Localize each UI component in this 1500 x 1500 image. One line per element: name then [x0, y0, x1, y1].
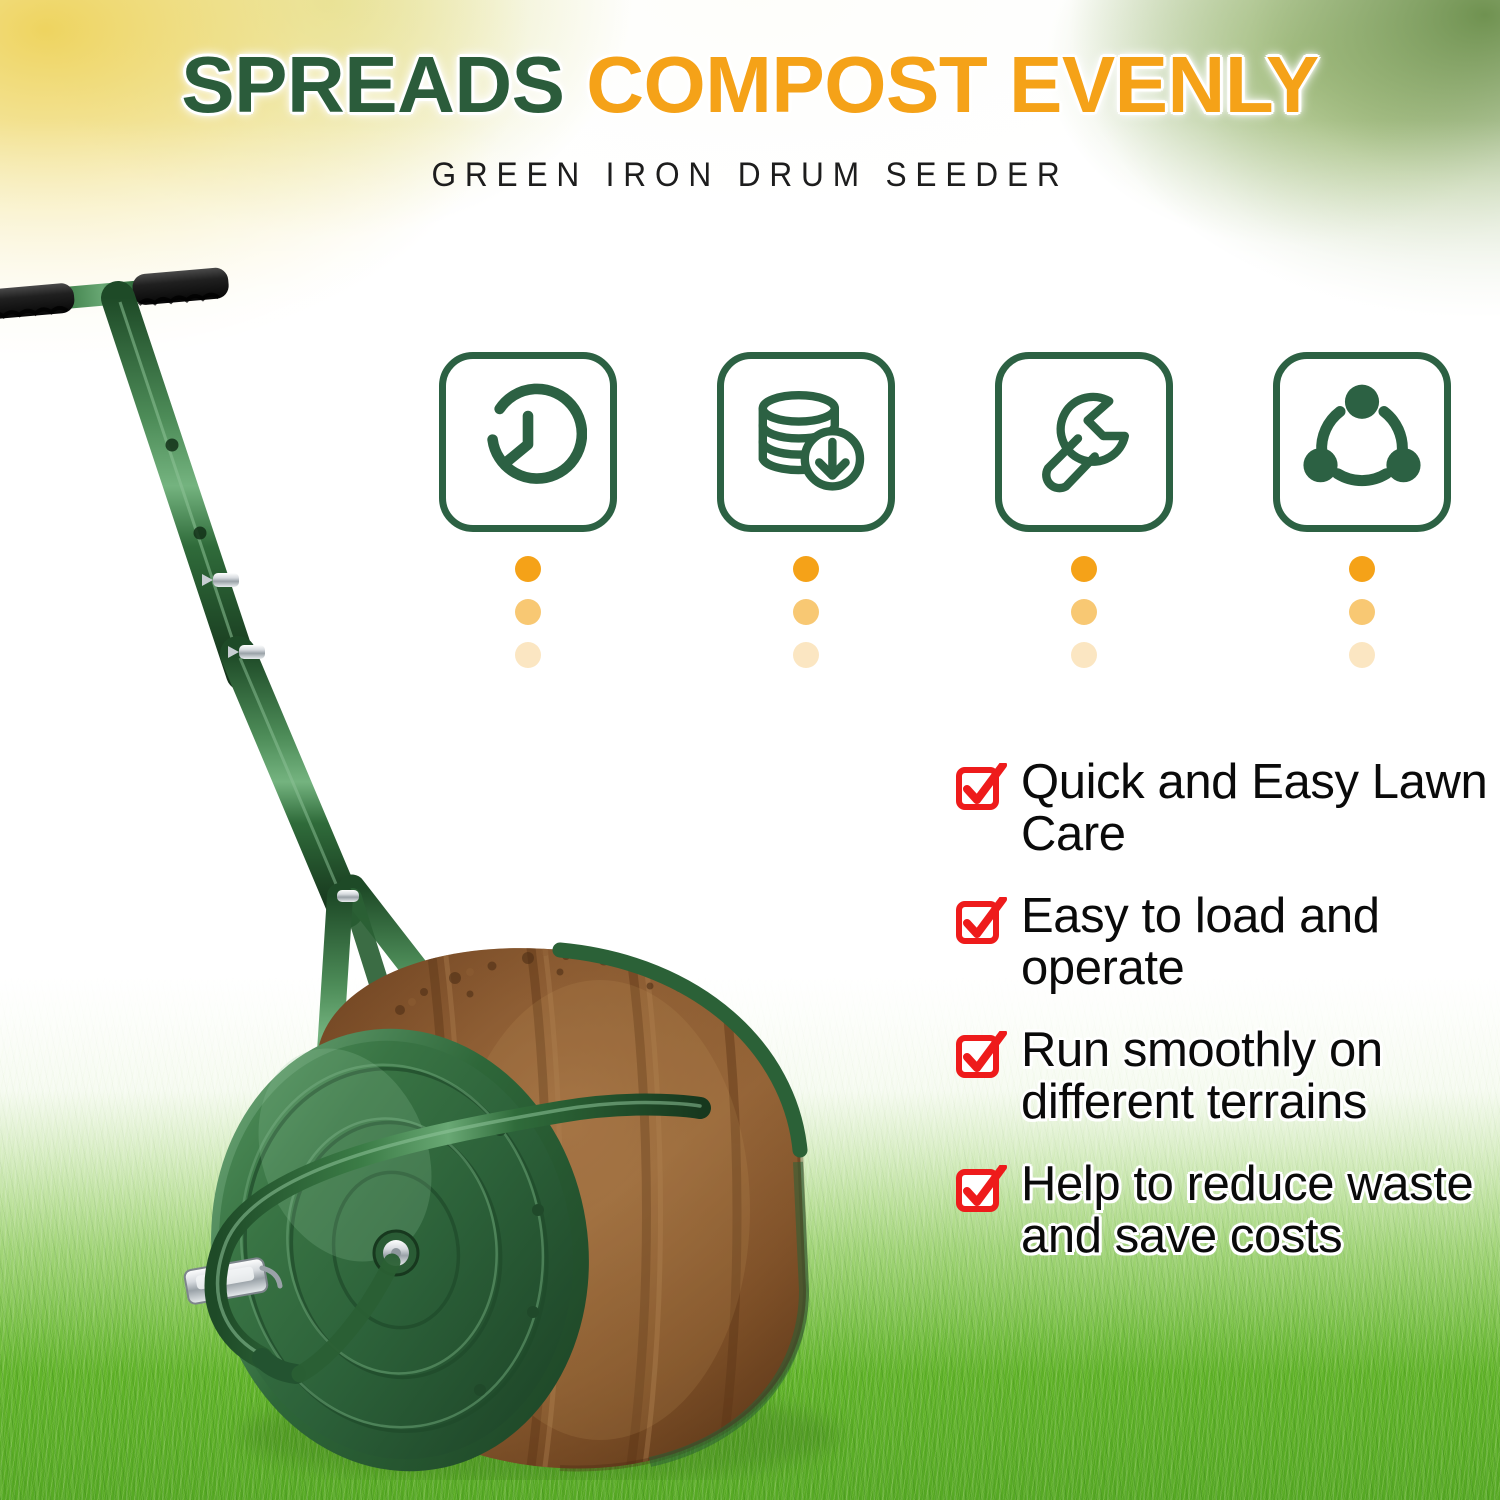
feature-text: Help to reduce waste and save costs [1021, 1159, 1495, 1263]
dot-mid [1071, 599, 1097, 625]
dot-trail [1071, 556, 1097, 668]
product-handle [0, 267, 347, 910]
page-subtitle: GREEN IRON DRUM SEEDER [53, 156, 1448, 195]
red-checkbox-icon [955, 897, 1007, 947]
dot-faint [1071, 642, 1097, 668]
promo-image-canvas: SPREADS COMPOST EVENLY GREEN IRON DRUM S… [0, 0, 1500, 1500]
handle-grip-right [131, 267, 229, 306]
dot-primary [1349, 556, 1375, 582]
icon-frame-share [1273, 352, 1451, 532]
feature-text: Quick and Easy Lawn Care [1021, 757, 1495, 861]
headline-part-two: COMPOST EVENLY [586, 40, 1318, 129]
dot-faint [1349, 642, 1375, 668]
red-checkbox-icon [955, 763, 1007, 813]
wrench-icon [1024, 382, 1144, 502]
feature-text: Easy to load and operate [1021, 891, 1495, 995]
headline-part-one: SPREADS [181, 40, 564, 129]
dot-trail [1349, 556, 1375, 668]
red-checkbox-icon [955, 1165, 1007, 1215]
icon-frame-wrench [995, 352, 1173, 532]
benefit-item-versatility [1264, 352, 1460, 668]
feature-list: Quick and Easy Lawn Care Easy to load an… [955, 757, 1495, 1263]
handle-shaft-lower [238, 654, 347, 910]
handle-shaft-upper [118, 298, 244, 674]
feature-item: Run smoothly on different terrains [955, 1025, 1495, 1129]
handle-grip-left [0, 282, 75, 320]
page-title: SPREADS COMPOST EVENLY [0, 44, 1500, 126]
feature-item: Help to reduce waste and save costs [955, 1159, 1495, 1263]
share-nodes-icon [1301, 381, 1423, 503]
product-image-drum-roller [0, 250, 960, 1480]
feature-text: Run smoothly on different terrains [1021, 1025, 1495, 1129]
benefit-item-assembly [986, 352, 1182, 668]
red-checkbox-icon [955, 1031, 1007, 1081]
feature-item: Easy to load and operate [955, 891, 1495, 995]
dot-mid [1349, 599, 1375, 625]
feature-item: Quick and Easy Lawn Care [955, 757, 1495, 861]
dot-primary [1071, 556, 1097, 582]
header-block: SPREADS COMPOST EVENLY GREEN IRON DRUM S… [0, 44, 1500, 195]
